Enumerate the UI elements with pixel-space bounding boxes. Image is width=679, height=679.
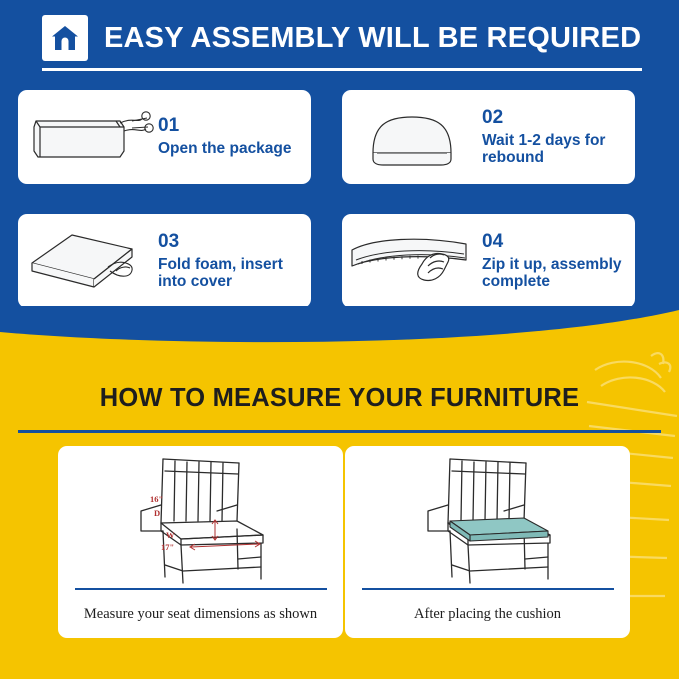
depth-letter: D [154, 508, 160, 518]
step-04-text-wrap: 04 Zip it up, assembly complete [482, 232, 635, 291]
header-divider [42, 68, 642, 71]
chair-with-cushion-illustration [345, 446, 630, 588]
zipper-hand-illustration [342, 214, 482, 308]
step-card-02: 02 Wait 1-2 days for rebound ▼ [342, 90, 635, 184]
step-card-03: 03 Fold foam, insert into cover [18, 214, 311, 308]
package-scissors-illustration [18, 90, 158, 184]
width-letter: W [166, 530, 175, 540]
step-02-text-wrap: 02 Wait 1-2 days for rebound [482, 108, 635, 167]
depth-dimension: 16" [150, 494, 163, 504]
step-card-01: 01 Open the package ▶ [18, 90, 311, 184]
step-04-label: Zip it up, assembly complete [482, 256, 625, 291]
infographic-page: EASY ASSEMBLY WILL BE REQUIRED [0, 0, 679, 679]
measure-divider [18, 430, 661, 433]
fold-foam-illustration [18, 214, 158, 308]
step-03-text-wrap: 03 Fold foam, insert into cover [158, 232, 311, 291]
assembly-section: EASY ASSEMBLY WILL BE REQUIRED [0, 0, 679, 330]
width-dimension: 17" [161, 542, 174, 552]
step-03-number: 03 [158, 232, 301, 251]
step-01-number: 01 [158, 116, 301, 135]
chair-with-dimensions-illustration: 16" D W 17" [58, 446, 343, 588]
measure-card-1-caption: Measure your seat dimensions as shown [72, 590, 329, 638]
cushion-rebound-illustration [342, 90, 482, 184]
step-01-text-wrap: 01 Open the package [158, 116, 311, 157]
step-01-label: Open the package [158, 140, 301, 157]
measure-title: HOW TO MEASURE YOUR FURNITURE [0, 384, 679, 413]
step-04-number: 04 [482, 232, 625, 251]
measure-card-1: 16" D W 17" Measure your seat dimensions… [58, 446, 343, 638]
step-card-04: 04 Zip it up, assembly complete ◀ [342, 214, 635, 308]
page-title: EASY ASSEMBLY WILL BE REQUIRED [104, 22, 641, 55]
assembly-header: EASY ASSEMBLY WILL BE REQUIRED [42, 14, 642, 62]
step-02-number: 02 [482, 108, 625, 127]
step-02-label: Wait 1-2 days for rebound [482, 132, 625, 167]
measure-card-2: After placing the cushion [345, 446, 630, 638]
home-icon [42, 15, 88, 61]
step-03-label: Fold foam, insert into cover [158, 256, 301, 291]
measure-card-2-caption: After placing the cushion [402, 590, 573, 638]
